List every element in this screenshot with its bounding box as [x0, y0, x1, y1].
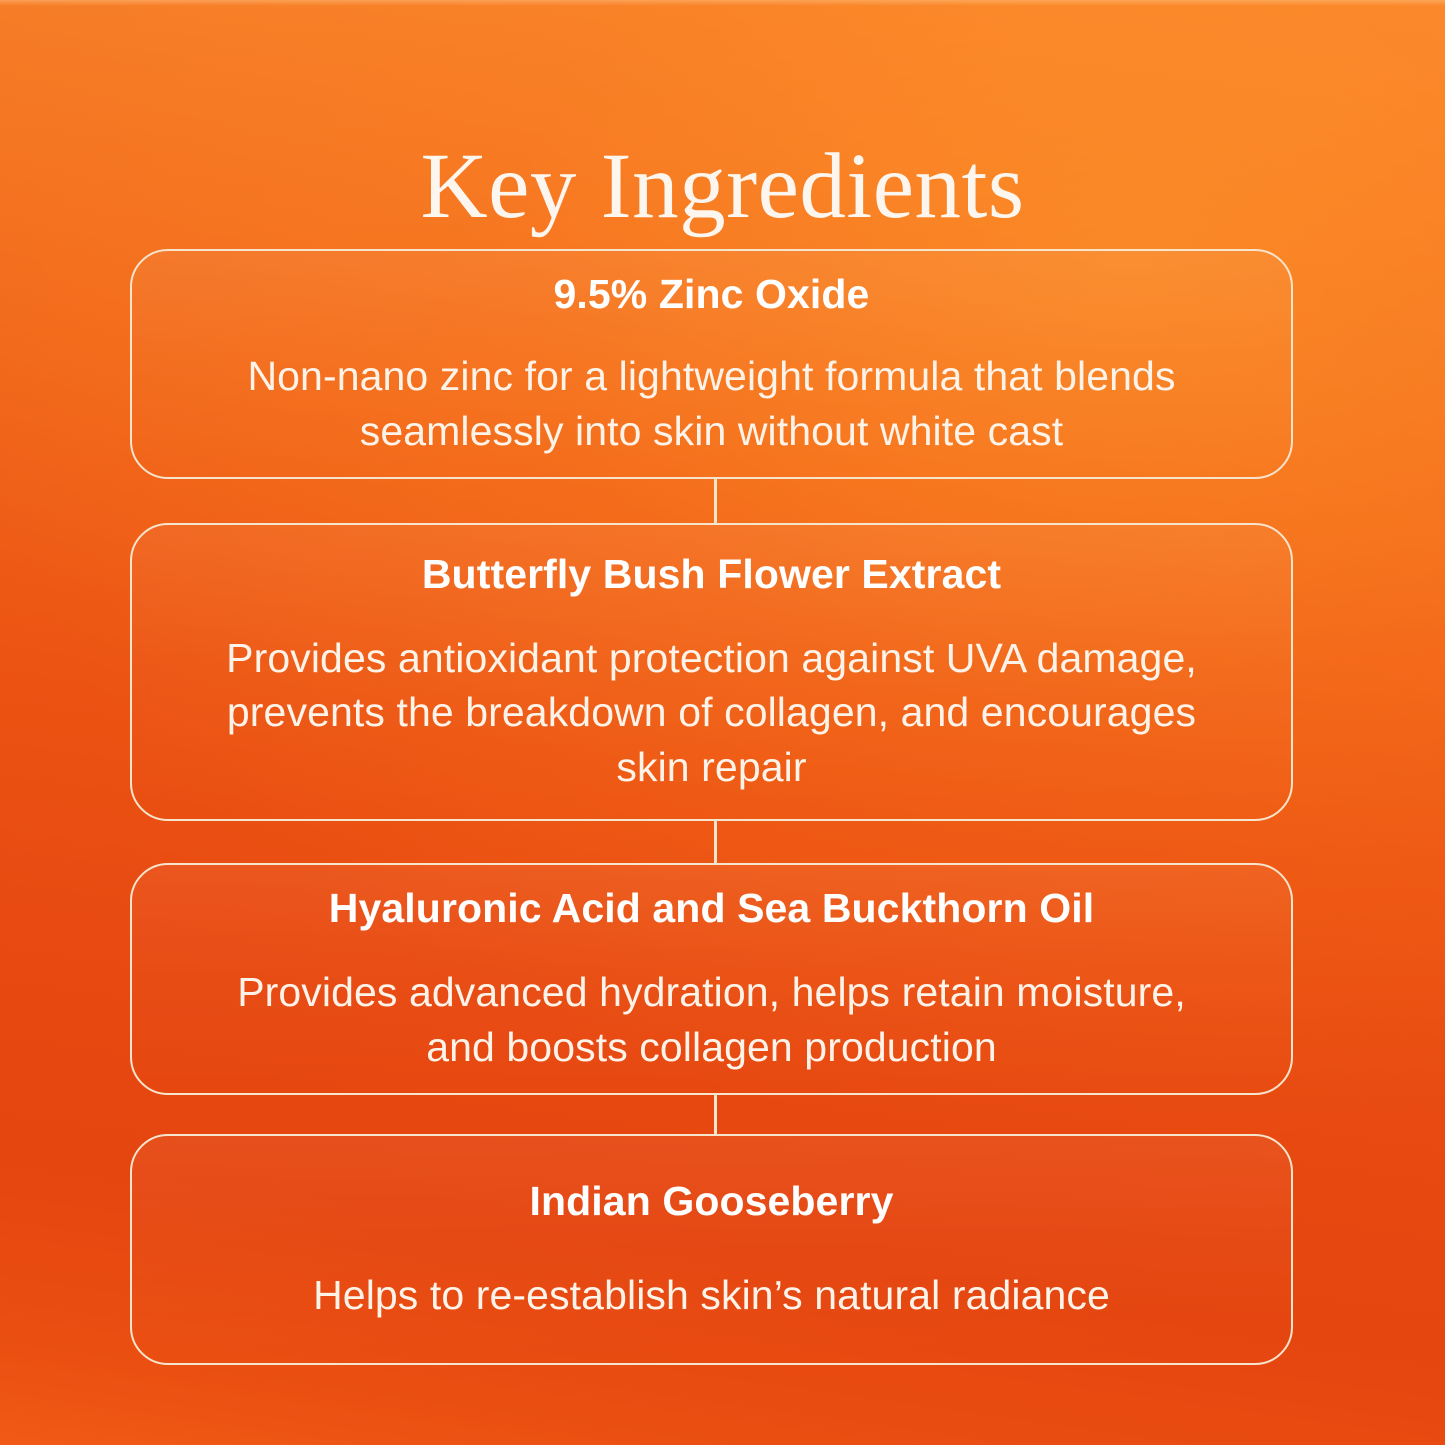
ingredient-card-stack: 9.5% Zinc Oxide Non-nano zinc for a ligh…	[130, 249, 1293, 1365]
key-ingredients-infographic: Key Ingredients 9.5% Zinc Oxide Non-nano…	[0, 0, 1445, 1445]
ingredient-card-butterfly-bush-flower-extract[interactable]: Butterfly Bush Flower Extract Provides a…	[130, 523, 1293, 821]
page-title: Key Ingredients	[0, 138, 1445, 236]
ingredient-card-zinc-oxide[interactable]: 9.5% Zinc Oxide Non-nano zinc for a ligh…	[130, 249, 1293, 479]
connector-line	[714, 1095, 717, 1134]
connector-line	[714, 479, 717, 523]
ingredient-description: Non-nano zinc for a lightweight formula …	[212, 349, 1212, 458]
ingredient-description: Helps to re-establish skin’s natural rad…	[313, 1268, 1110, 1323]
card-connector-2	[130, 821, 1293, 863]
ingredient-description: Provides advanced hydration, helps retai…	[217, 965, 1207, 1074]
ingredient-title: Butterfly Bush Flower Extract	[422, 550, 1001, 599]
card-connector-3	[130, 1095, 1293, 1134]
connector-line	[714, 821, 717, 863]
ingredient-title: Indian Gooseberry	[530, 1177, 894, 1226]
ingredient-card-hyaluronic-acid-sea-buckthorn-oil[interactable]: Hyaluronic Acid and Sea Buckthorn Oil Pr…	[130, 863, 1293, 1095]
card-connector-1	[130, 479, 1293, 523]
ingredient-card-indian-gooseberry[interactable]: Indian Gooseberry Helps to re-establish …	[130, 1134, 1293, 1365]
ingredient-title: Hyaluronic Acid and Sea Buckthorn Oil	[329, 884, 1094, 933]
ingredient-title: 9.5% Zinc Oxide	[554, 270, 870, 319]
ingredient-description: Provides antioxidant protection against …	[212, 631, 1212, 795]
